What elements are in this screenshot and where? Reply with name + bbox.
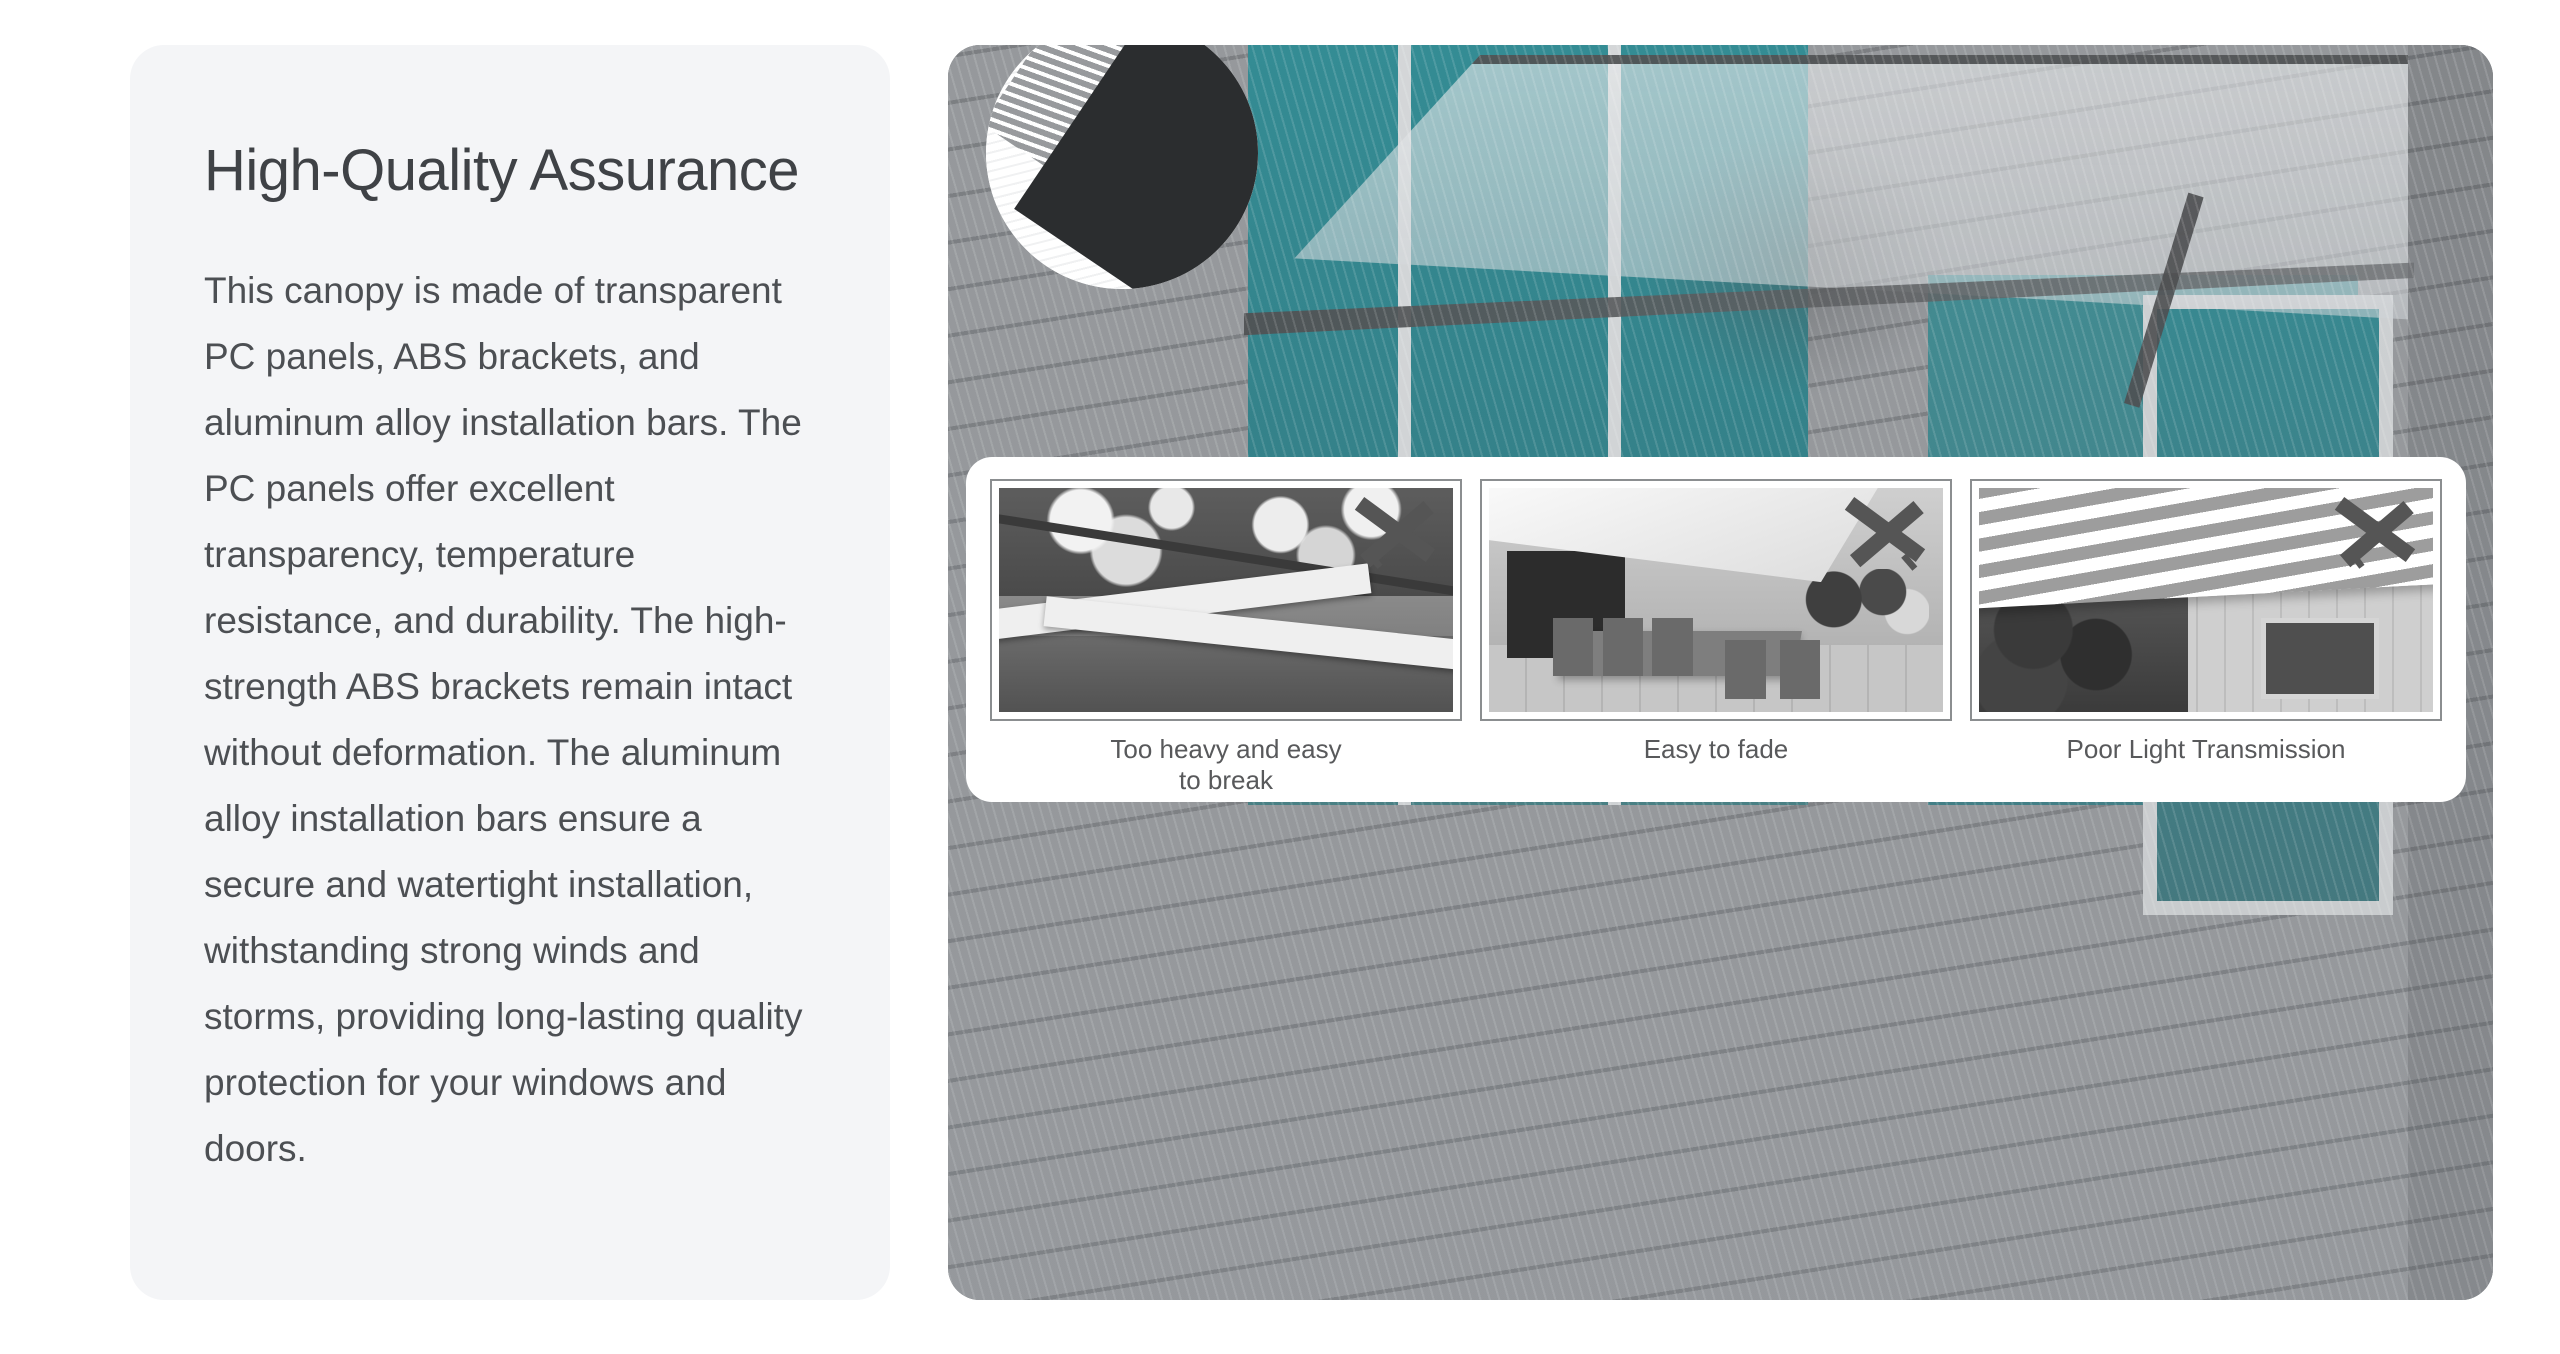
page-title: High-Quality Assurance — [204, 141, 816, 202]
photo-window — [2261, 618, 2379, 699]
photo-frame — [1970, 479, 2442, 721]
photo-chair — [1603, 618, 1644, 676]
comparison-caption: Too heavy and easy to break — [1110, 734, 1341, 796]
photo-frame — [1480, 479, 1952, 721]
photo-chair — [1553, 618, 1594, 676]
description-paragraph: This canopy is made of transparent PC pa… — [204, 258, 816, 1182]
comparison-panel: Too heavy and easy to break — [966, 457, 2466, 802]
photo-chair — [1780, 640, 1821, 698]
photo-chair — [1652, 618, 1693, 676]
photo-chair — [1725, 640, 1766, 698]
red-x-mark — [2327, 494, 2423, 578]
photo-frame — [990, 479, 1462, 721]
red-x-mark — [1347, 494, 1443, 578]
red-x-mark — [1837, 494, 1933, 578]
page-root: High-Quality Assurance This canopy is ma… — [0, 0, 2560, 1354]
collapsed-canopy-photo — [999, 488, 1453, 712]
comparison-caption: Easy to fade — [1644, 734, 1789, 765]
comparison-caption: Poor Light Transmission — [2067, 734, 2346, 765]
comparison-item-poor-light: Poor Light Transmission — [1970, 479, 2442, 802]
magnifier-inset — [986, 45, 1258, 289]
product-hero-image: Impact Resistance — [948, 45, 2493, 1300]
comparison-item-easy-fade: Easy to fade — [1480, 479, 1952, 802]
patio-awning-photo — [1489, 488, 1943, 712]
striped-awning-photo — [1979, 488, 2433, 712]
comparison-item-heavy-break: Too heavy and easy to break — [990, 479, 1462, 802]
description-card: High-Quality Assurance This canopy is ma… — [130, 45, 890, 1300]
